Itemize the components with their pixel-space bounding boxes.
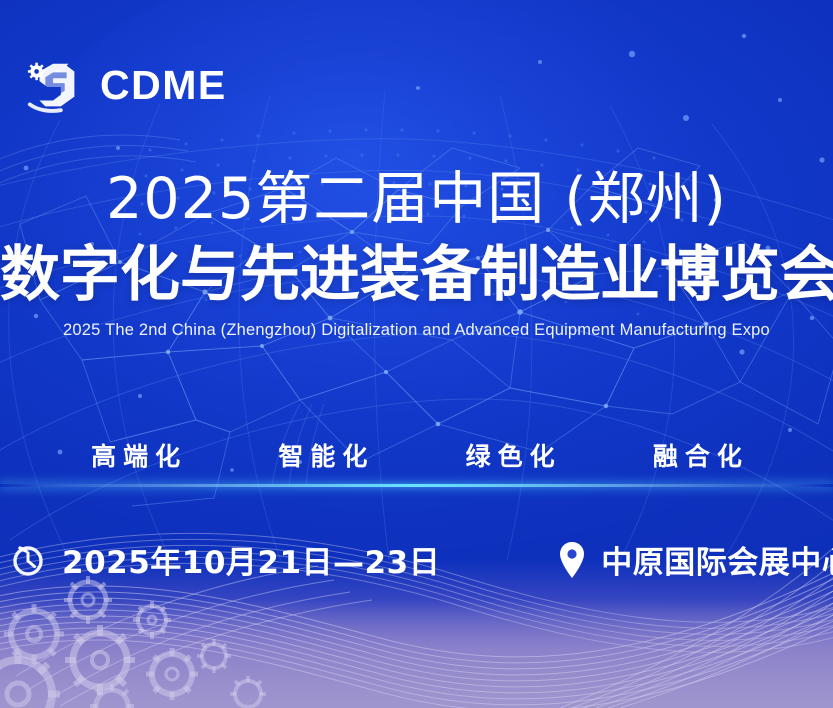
title-block: 2025第二届中国 (郑州) 数字化与先进装备制造业博览会 2025 The 2… (0, 164, 833, 341)
section-divider (0, 484, 833, 487)
event-info-row: 2025年10月21日—23日 中原国际会展中心 (0, 537, 833, 582)
event-venue: 中原国际会展中心 (555, 537, 833, 582)
keyword-item: 融合化 (646, 437, 749, 473)
brand-logo-text: CDME (100, 65, 227, 106)
brand-logo[interactable]: CDME (24, 54, 227, 116)
event-date-text: 2025年10月21日—23日 (62, 537, 440, 582)
keyword-item: 智能化 (271, 437, 374, 473)
keyword-row: 高端化 智能化 绿色化 融合化 (0, 437, 833, 473)
background-bottom-gradient-2 (0, 600, 833, 708)
subtitle-english: 2025 The 2nd China (Zhengzhou) Digitaliz… (0, 319, 833, 341)
title-line-1: 2025第二届中国 (郑州) (0, 164, 833, 234)
background-bottom-gradient (0, 560, 833, 708)
location-pin-icon (555, 539, 589, 581)
keyword-item: 高端化 (84, 437, 187, 473)
event-venue-text: 中原国际会展中心 (601, 537, 833, 582)
title-line-2: 数字化与先进装备制造业博览会 (0, 238, 833, 312)
expo-poster: CDME 2025第二届中国 (郑州) 数字化与先进装备制造业博览会 2025 … (0, 0, 833, 708)
keyword-item: 绿色化 (459, 437, 562, 473)
clock-icon (8, 540, 48, 580)
cdme-gear-s-logo-icon (24, 54, 86, 116)
event-date: 2025年10月21日—23日 (8, 537, 440, 582)
